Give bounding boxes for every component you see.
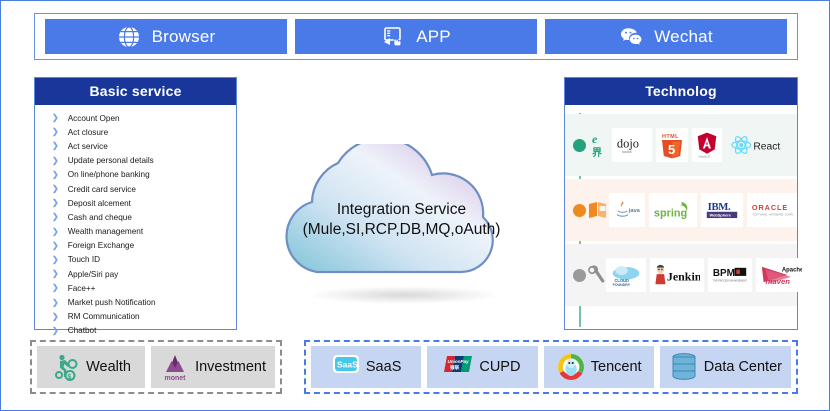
html5-logo: HTML 5 xyxy=(656,128,688,162)
wechat-bubbles-icon xyxy=(619,25,643,49)
list-item[interactable]: ❯ Update personal details xyxy=(43,154,236,168)
open-book-icon xyxy=(586,200,609,220)
list-item[interactable]: ❯ RM Communication xyxy=(43,310,236,324)
bpm-logo: BPM THE PROCESS MANAGEMENT xyxy=(708,258,752,292)
external-partners-group: SaaS SaaS UnionPay 银联 CUPD xyxy=(304,340,798,394)
row-logos: dojo toolkit HTML 5 xyxy=(612,128,792,162)
technology-row-frontend: e 界 dojo toolkit HTML xyxy=(565,114,797,176)
monet-mountain-icon: monet xyxy=(160,352,190,382)
svg-text:$: $ xyxy=(67,374,71,381)
mobile-screen-touch-icon xyxy=(381,25,405,49)
list-item-label: Wealth management xyxy=(68,227,143,236)
svg-text:5: 5 xyxy=(668,142,675,157)
list-item[interactable]: ❯ Market push Notification xyxy=(43,295,236,309)
apache-maven-logo: Apache maven xyxy=(756,258,806,292)
chevron-right-icon: ❯ xyxy=(52,228,59,236)
tile-label: Wealth xyxy=(86,359,131,375)
chevron-right-icon: ❯ xyxy=(52,171,59,179)
svg-text:UnionPay: UnionPay xyxy=(448,359,470,364)
svg-text:React: React xyxy=(753,142,780,153)
svg-text:FOUNDRY: FOUNDRY xyxy=(613,283,631,287)
chevron-right-icon: ❯ xyxy=(52,199,59,207)
svg-text:e: e xyxy=(592,132,598,146)
channel-label: Browser xyxy=(152,27,216,47)
list-item[interactable]: ❯ Act closure xyxy=(43,125,236,139)
angularjs-logo: AngularJS xyxy=(692,128,722,162)
spring-logo: spring xyxy=(649,193,697,227)
list-item[interactable]: ❯ Account Open xyxy=(43,111,236,125)
list-item-label: RM Communication xyxy=(68,312,140,321)
list-item-label: Face++ xyxy=(68,284,96,293)
list-item[interactable]: ❯ Deposit alcement xyxy=(43,196,236,210)
channel-button-app[interactable]: APP xyxy=(295,19,537,54)
channel-label: Wechat xyxy=(654,27,713,47)
chevron-right-icon: ❯ xyxy=(52,114,59,122)
ie-browser-icon: e 界 xyxy=(586,132,612,158)
technology-panel: Technolog e 界 dojo toolkit xyxy=(564,77,798,330)
jenkins-logo: Jenkins xyxy=(650,258,704,292)
list-item-label: Update personal details xyxy=(68,156,154,165)
svg-text:spring: spring xyxy=(654,207,687,219)
technology-row-devops: CLOUD FOUNDRY Jenkins xyxy=(565,244,797,306)
svg-text:SOFTWARE. HARDWARE. COMPLETE.: SOFTWARE. HARDWARE. COMPLETE. xyxy=(753,212,793,216)
channel-label: APP xyxy=(416,27,451,47)
tile-label: Data Center xyxy=(704,359,782,375)
java-logo: java xyxy=(609,193,645,227)
tile-saas[interactable]: SaaS SaaS xyxy=(311,346,421,388)
architecture-diagram: Browser APP xyxy=(0,0,830,411)
list-item-label: Market push Notification xyxy=(68,298,156,307)
row-marker-dot xyxy=(573,269,586,282)
list-item-label: Chatbot xyxy=(68,326,97,335)
list-item-label: Act service xyxy=(68,142,108,151)
chevron-right-icon: ❯ xyxy=(52,213,59,221)
svg-text:maven: maven xyxy=(765,277,790,286)
list-item-label: Apple/Siri pay xyxy=(68,270,119,279)
chevron-right-icon: ❯ xyxy=(52,142,59,150)
svg-text:银联: 银联 xyxy=(449,364,460,371)
tile-label: Tencent xyxy=(591,359,642,375)
tile-label: CUPD xyxy=(479,359,520,375)
chevron-right-icon: ❯ xyxy=(52,242,59,250)
svg-text:HTML: HTML xyxy=(662,134,679,140)
tile-wealth[interactable]: $ Wealth xyxy=(37,346,145,388)
database-cylinder-icon xyxy=(669,352,699,382)
internal-systems-group: $ Wealth monet Investment xyxy=(30,340,282,394)
list-item[interactable]: ❯ Wealth management xyxy=(43,225,236,239)
channel-button-wechat[interactable]: Wechat xyxy=(545,19,787,54)
ibm-websphere-logo: IBM. WebSphere xyxy=(701,193,743,227)
tile-label: Investment xyxy=(195,359,266,375)
tile-tencent[interactable]: Tencent xyxy=(544,346,654,388)
svg-text:ORACLE: ORACLE xyxy=(752,203,788,212)
list-item-label: On line/phone banking xyxy=(68,170,150,179)
tile-investment[interactable]: monet Investment xyxy=(151,346,275,388)
row-marker-dot xyxy=(573,204,586,217)
list-item[interactable]: ❯ Touch ID xyxy=(43,253,236,267)
list-item[interactable]: ❯ On line/phone banking xyxy=(43,168,236,182)
svg-text:BPM: BPM xyxy=(713,268,735,279)
basic-service-list: ❯ Account Open ❯ Act closure ❯ Act servi… xyxy=(35,105,236,338)
chevron-right-icon: ❯ xyxy=(52,128,59,136)
technology-row-backend: java spring IBM. WebSphere xyxy=(565,179,797,241)
row-logos: java spring IBM. WebSphere xyxy=(609,193,797,227)
chevron-right-icon: ❯ xyxy=(52,157,59,165)
row-logos: CLOUD FOUNDRY Jenkins xyxy=(606,258,806,292)
svg-text:THE PROCESS MANAGEMENT: THE PROCESS MANAGEMENT xyxy=(713,279,748,282)
list-item[interactable]: ❯ Foreign Exchange xyxy=(43,239,236,253)
list-item[interactable]: ❯ Credit card service xyxy=(43,182,236,196)
svg-text:IBM.: IBM. xyxy=(708,201,731,213)
globe-icon xyxy=(117,25,141,49)
chevron-right-icon: ❯ xyxy=(52,313,59,321)
technology-rows: e 界 dojo toolkit HTML xyxy=(565,105,797,337)
channel-bar: Browser APP xyxy=(34,13,798,60)
list-item[interactable]: ❯ Face++ xyxy=(43,281,236,295)
list-item[interactable]: ❯ Chatbot xyxy=(43,324,236,338)
react-logo: React xyxy=(726,128,792,162)
svg-text:java: java xyxy=(628,208,641,214)
svg-text:Apache: Apache xyxy=(782,267,802,273)
chevron-right-icon: ❯ xyxy=(52,299,59,307)
row-marker-dot xyxy=(573,139,586,152)
tencent-penguin-icon xyxy=(556,352,586,382)
svg-text:Jenkins: Jenkins xyxy=(667,270,700,284)
cloud-foundry-logo: CLOUD FOUNDRY xyxy=(606,258,646,292)
chevron-right-icon: ❯ xyxy=(52,185,59,193)
list-item-label: Credit card service xyxy=(68,185,136,194)
svg-text:AngularJS: AngularJS xyxy=(698,154,710,158)
saas-badge-icon: SaaS xyxy=(331,352,361,382)
unionpay-card-icon: UnionPay 银联 xyxy=(444,352,474,382)
list-item[interactable]: ❯ Cash and cheque xyxy=(43,210,236,224)
list-item-label: Account Open xyxy=(68,114,120,123)
channel-button-browser[interactable]: Browser xyxy=(45,19,287,54)
chevron-right-icon: ❯ xyxy=(52,327,59,335)
basic-service-title: Basic service xyxy=(35,78,236,105)
chevron-right-icon: ❯ xyxy=(52,270,59,278)
list-item-label: Touch ID xyxy=(68,255,100,264)
technology-title: Technolog xyxy=(565,78,797,105)
svg-text:WebSphere: WebSphere xyxy=(709,213,731,218)
list-item-label: Act closure xyxy=(68,128,109,137)
list-item-label: Cash and cheque xyxy=(68,213,132,222)
chevron-right-icon: ❯ xyxy=(52,256,59,264)
integration-service-cloud: Integration Service (Mule,SI,RCP,DB,MQ,o… xyxy=(259,144,544,309)
tile-data-center[interactable]: Data Center xyxy=(660,346,791,388)
basic-service-panel: Basic service ❯ Account Open ❯ Act closu… xyxy=(34,77,237,330)
list-item[interactable]: ❯ Apple/Siri pay xyxy=(43,267,236,281)
svg-text:界: 界 xyxy=(592,147,602,158)
chevron-right-icon: ❯ xyxy=(52,284,59,292)
list-item-label: Foreign Exchange xyxy=(68,241,134,250)
tile-label: SaaS xyxy=(366,359,401,375)
wealth-gears-icon: $ xyxy=(51,352,81,382)
wrench-icon xyxy=(586,264,606,286)
svg-text:toolkit: toolkit xyxy=(622,150,631,154)
oracle-logo: ORACLE SOFTWARE. HARDWARE. COMPLETE. xyxy=(747,193,797,227)
list-item-label: Deposit alcement xyxy=(68,199,131,208)
dojo-logo: dojo toolkit xyxy=(612,128,652,162)
tile-cupd[interactable]: UnionPay 银联 CUPD xyxy=(427,346,537,388)
list-item[interactable]: ❯ Act service xyxy=(43,139,236,153)
svg-text:monet: monet xyxy=(165,375,187,382)
svg-text:SaaS: SaaS xyxy=(337,360,358,370)
svg-text:dojo: dojo xyxy=(617,137,639,151)
